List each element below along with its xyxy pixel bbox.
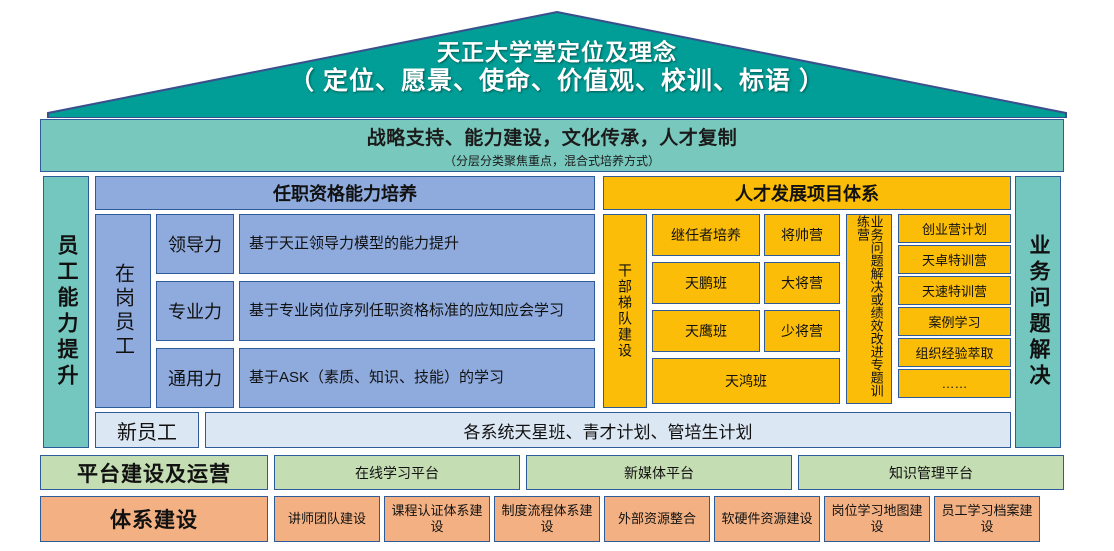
talent-program-wide: 天鸿班	[652, 358, 840, 404]
system-item: 员工学习档案建设	[934, 496, 1040, 542]
talent-camp-item: 将帅营	[764, 214, 840, 256]
platform-title: 平台建设及运营	[40, 455, 268, 490]
program-list-item: 组织经验萃取	[898, 338, 1011, 367]
talent-zone: 干部梯队建设 继任者培养 天鹏班 天鹰班 将帅营 大将营 少将营 天鸿班 业务问…	[603, 214, 1011, 408]
new-employee-description: 各系统天星班、青才计划、管培生计划	[205, 412, 1011, 448]
talent-program-item: 继任者培养	[652, 214, 760, 256]
cadre-echelon-group: 干部梯队建设	[603, 214, 647, 408]
program-list-item: 案例学习	[898, 307, 1011, 336]
center-area: 任职资格能力培养 人才发展项目体系 在岗员工 领导力 基于天正领导力模型的能力提…	[95, 176, 1011, 448]
cadre-echelon-label: 干部梯队建设	[615, 263, 635, 359]
system-item: 讲师团队建设	[274, 496, 380, 542]
system-item: 外部资源整合	[604, 496, 710, 542]
main-body: 员工能力提升 业务问题解决 任职资格能力培养 人才发展项目体系 在岗员工 领导力…	[40, 176, 1064, 448]
capability-cell: 领导力	[156, 214, 234, 274]
capability-description: 基于ASK（素质、知识、技能）的学习	[239, 348, 595, 408]
business-training-camp: 业务问题解决或绩效改进专题训练营	[846, 214, 892, 404]
new-employee-row: 新员工 各系统天星班、青才计划、管培生计划	[95, 412, 1011, 448]
system-row: 体系建设 讲师团队建设 课程认证体系建设 制度流程体系建设 外部资源整合 软硬件…	[40, 496, 1064, 542]
qualification-header: 任职资格能力培养	[95, 176, 595, 210]
pillar-right-label: 业务问题解决	[1023, 234, 1053, 390]
program-list-item: ……	[898, 369, 1011, 398]
pillar-employee-capability: 员工能力提升	[43, 176, 89, 448]
program-list-item: 天速特训营	[898, 276, 1011, 305]
system-item: 制度流程体系建设	[494, 496, 600, 542]
talent-camp-item: 大将营	[764, 262, 840, 304]
capability-cell: 通用力	[156, 348, 234, 408]
onjob-employee-label: 在岗员工	[109, 263, 138, 359]
pillar-business-problem: 业务问题解决	[1015, 176, 1061, 448]
new-employee-label: 新员工	[95, 412, 199, 448]
platform-item: 新媒体平台	[526, 455, 792, 490]
pillar-left-label: 员工能力提升	[51, 234, 81, 390]
system-title: 体系建设	[40, 496, 268, 542]
platform-item: 在线学习平台	[274, 455, 520, 490]
business-training-camp-label: 业务问题解决或绩效改进专题训练营	[855, 215, 882, 403]
roof-shape-icon	[0, 6, 1114, 118]
strategy-main-text: 战略支持、能力建设，文化传承，人才复制	[367, 123, 738, 150]
capability-description: 基于天正领导力模型的能力提升	[239, 214, 595, 274]
program-list-item: 创业营计划	[898, 214, 1011, 243]
program-list-item: 天卓特训营	[898, 245, 1011, 274]
talent-camp-item: 少将营	[764, 310, 840, 352]
capability-cell: 专业力	[156, 281, 234, 341]
pyramid-diagram: 天正大学堂定位及理念 （ 定位、愿景、使命、价值观、校训、标语 ） 战略支持、能…	[0, 0, 1114, 551]
capability-description: 基于专业岗位序列任职资格标准的应知应会学习	[239, 281, 595, 341]
talent-program-item: 天鹰班	[652, 310, 760, 352]
strategy-band: 战略支持、能力建设，文化传承，人才复制 （分层分类聚焦重点，混合式培养方式）	[40, 119, 1064, 172]
system-item: 岗位学习地图建设	[824, 496, 930, 542]
qualification-zone: 在岗员工 领导力 基于天正领导力模型的能力提升 专业力 基于专业岗位序列任职资格…	[95, 214, 595, 408]
onjob-employee-group: 在岗员工	[95, 214, 151, 408]
strategy-sub-text: （分层分类聚焦重点，混合式培养方式）	[444, 152, 660, 169]
platform-row: 平台建设及运营 在线学习平台 新媒体平台 知识管理平台	[40, 455, 1064, 490]
system-item: 课程认证体系建设	[384, 496, 490, 542]
platform-item: 知识管理平台	[798, 455, 1064, 490]
system-item: 软硬件资源建设	[714, 496, 820, 542]
talent-program-item: 天鹏班	[652, 262, 760, 304]
roof-section: 天正大学堂定位及理念 （ 定位、愿景、使命、价值观、校训、标语 ）	[0, 6, 1114, 118]
talent-header: 人才发展项目体系	[603, 176, 1011, 210]
